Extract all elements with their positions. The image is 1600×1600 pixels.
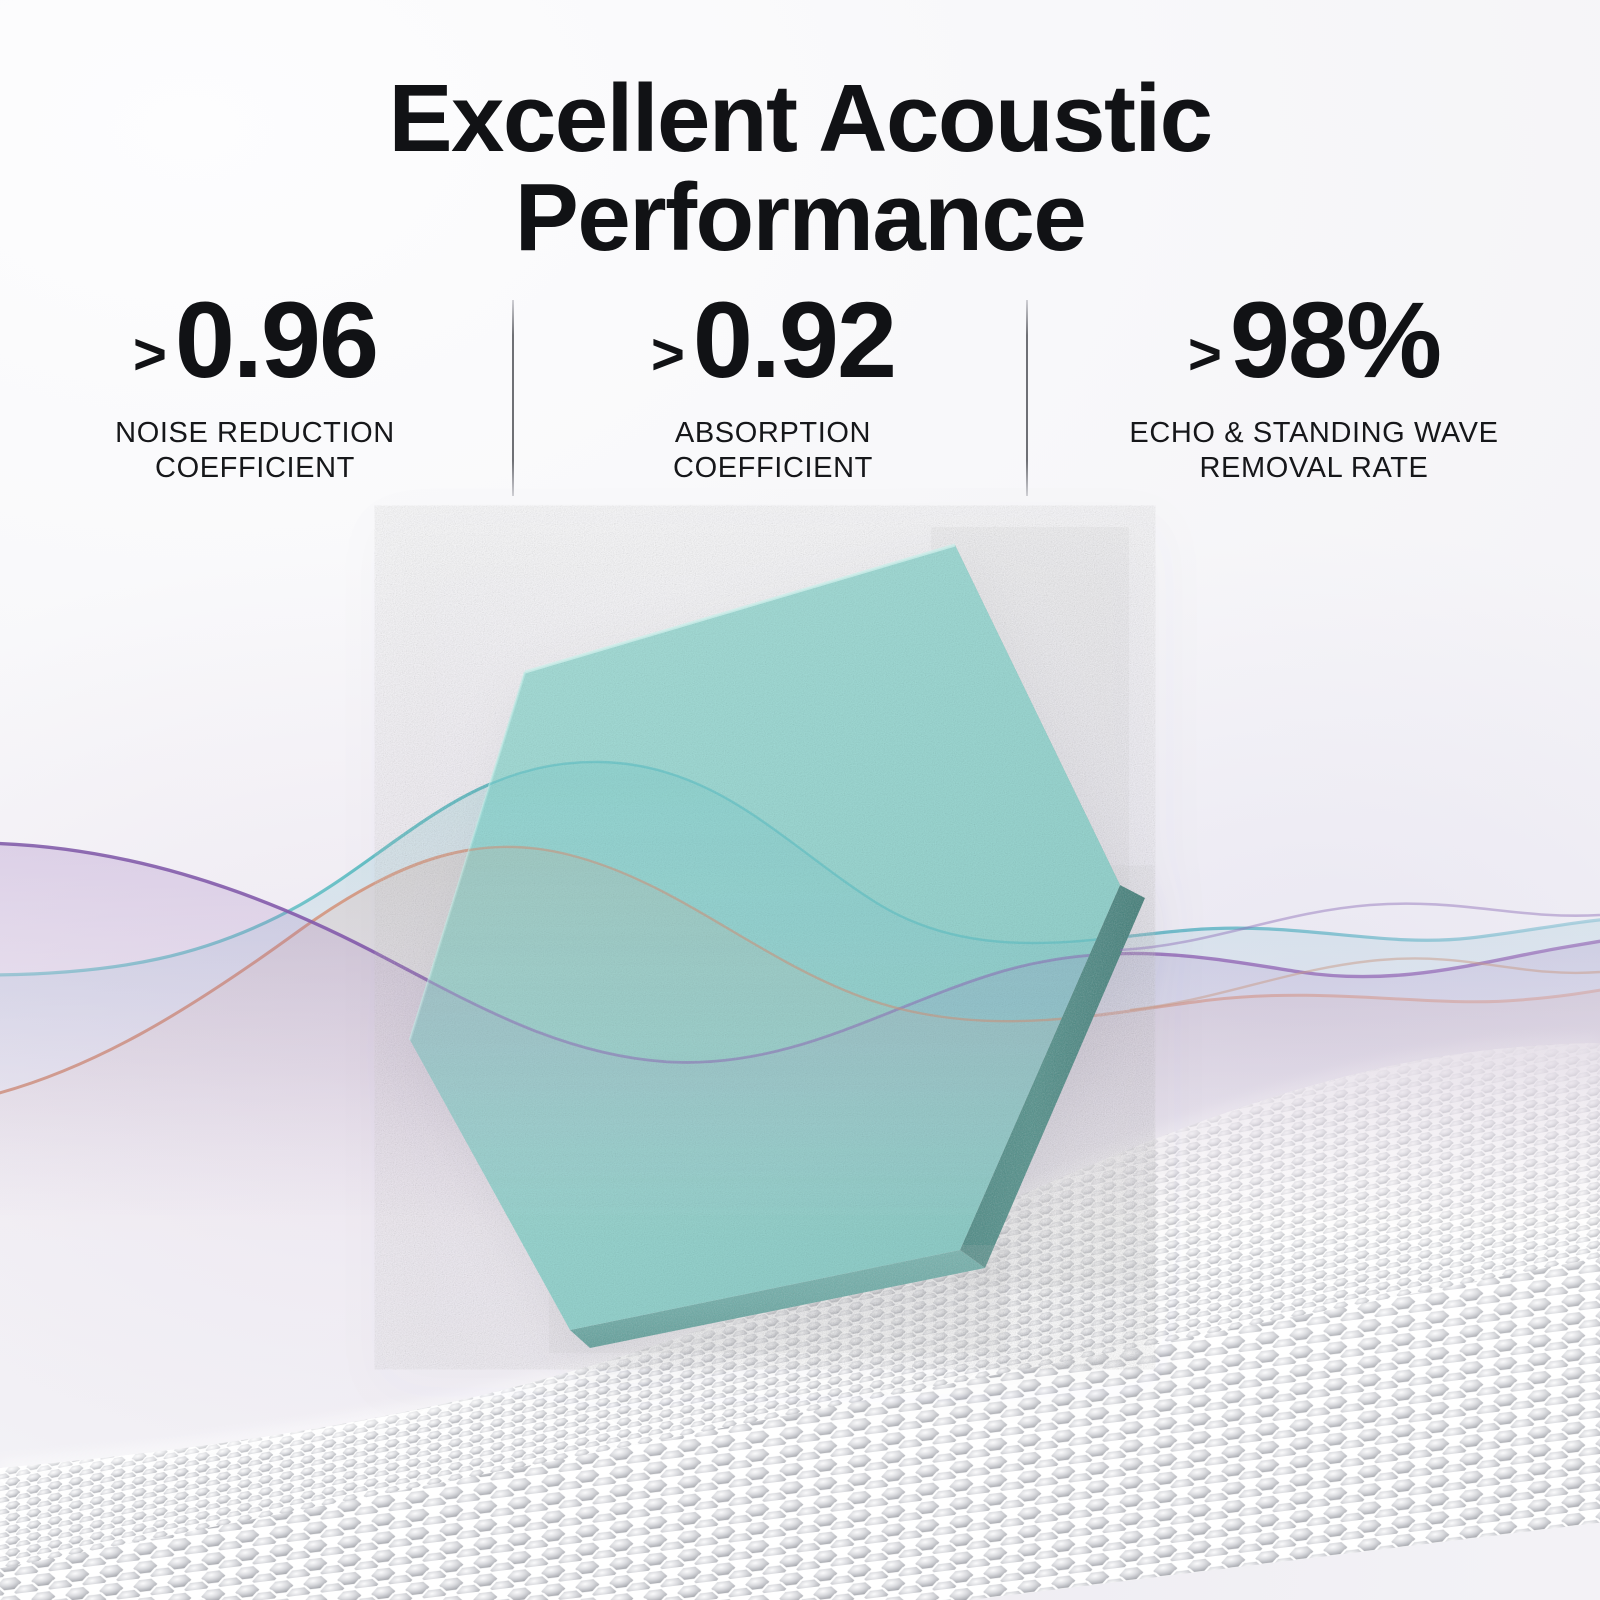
stat-value: > 0.92 xyxy=(538,286,1008,394)
stat-label: ABSORPTION COEFFICIENT xyxy=(538,416,1008,487)
stat-noise-reduction-coefficient: > 0.96 NOISE REDUCTION COEFFICIENT xyxy=(20,286,490,516)
greater-than-icon: > xyxy=(651,326,683,384)
stat-label: ECHO & STANDING WAVE REMOVAL RATE xyxy=(1048,416,1580,487)
greater-than-icon: > xyxy=(1188,326,1220,384)
page-title: Excellent Acoustic Performance xyxy=(0,70,1600,268)
stat-label-line-2: REMOVAL RATE xyxy=(1048,451,1580,486)
stat-label-line-2: COEFFICIENT xyxy=(20,451,490,486)
greater-than-icon: > xyxy=(133,326,165,384)
header-block: Excellent Acoustic Performance > 0.96 NO… xyxy=(0,0,1600,520)
stat-value: > 0.96 xyxy=(20,286,490,394)
stat-echo-standing-wave-removal-rate: > 98% ECHO & STANDING WAVE REMOVAL RATE xyxy=(1048,286,1580,516)
stat-number: 0.96 xyxy=(175,286,377,394)
stat-label-line-1: ABSORPTION xyxy=(538,416,1008,451)
stat-label-line-1: NOISE REDUCTION xyxy=(20,416,490,451)
stat-label: NOISE REDUCTION COEFFICIENT xyxy=(20,416,490,487)
page-title-line-1: Excellent Acoustic xyxy=(388,65,1211,172)
stat-value: > 98% xyxy=(1048,286,1580,394)
stat-number: 0.92 xyxy=(693,286,895,394)
stat-absorption-coefficient: > 0.92 ABSORPTION COEFFICIENT xyxy=(538,286,1008,516)
stats-divider-1 xyxy=(512,300,514,496)
stats-divider-2 xyxy=(1026,300,1028,496)
stat-number: 98% xyxy=(1230,286,1440,394)
stat-label-line-2: COEFFICIENT xyxy=(538,451,1008,486)
stats-row: > 0.96 NOISE REDUCTION COEFFICIENT > 0.9… xyxy=(0,286,1600,516)
stat-label-line-1: ECHO & STANDING WAVE xyxy=(1048,416,1580,451)
page-title-line-2: Performance xyxy=(0,169,1600,268)
